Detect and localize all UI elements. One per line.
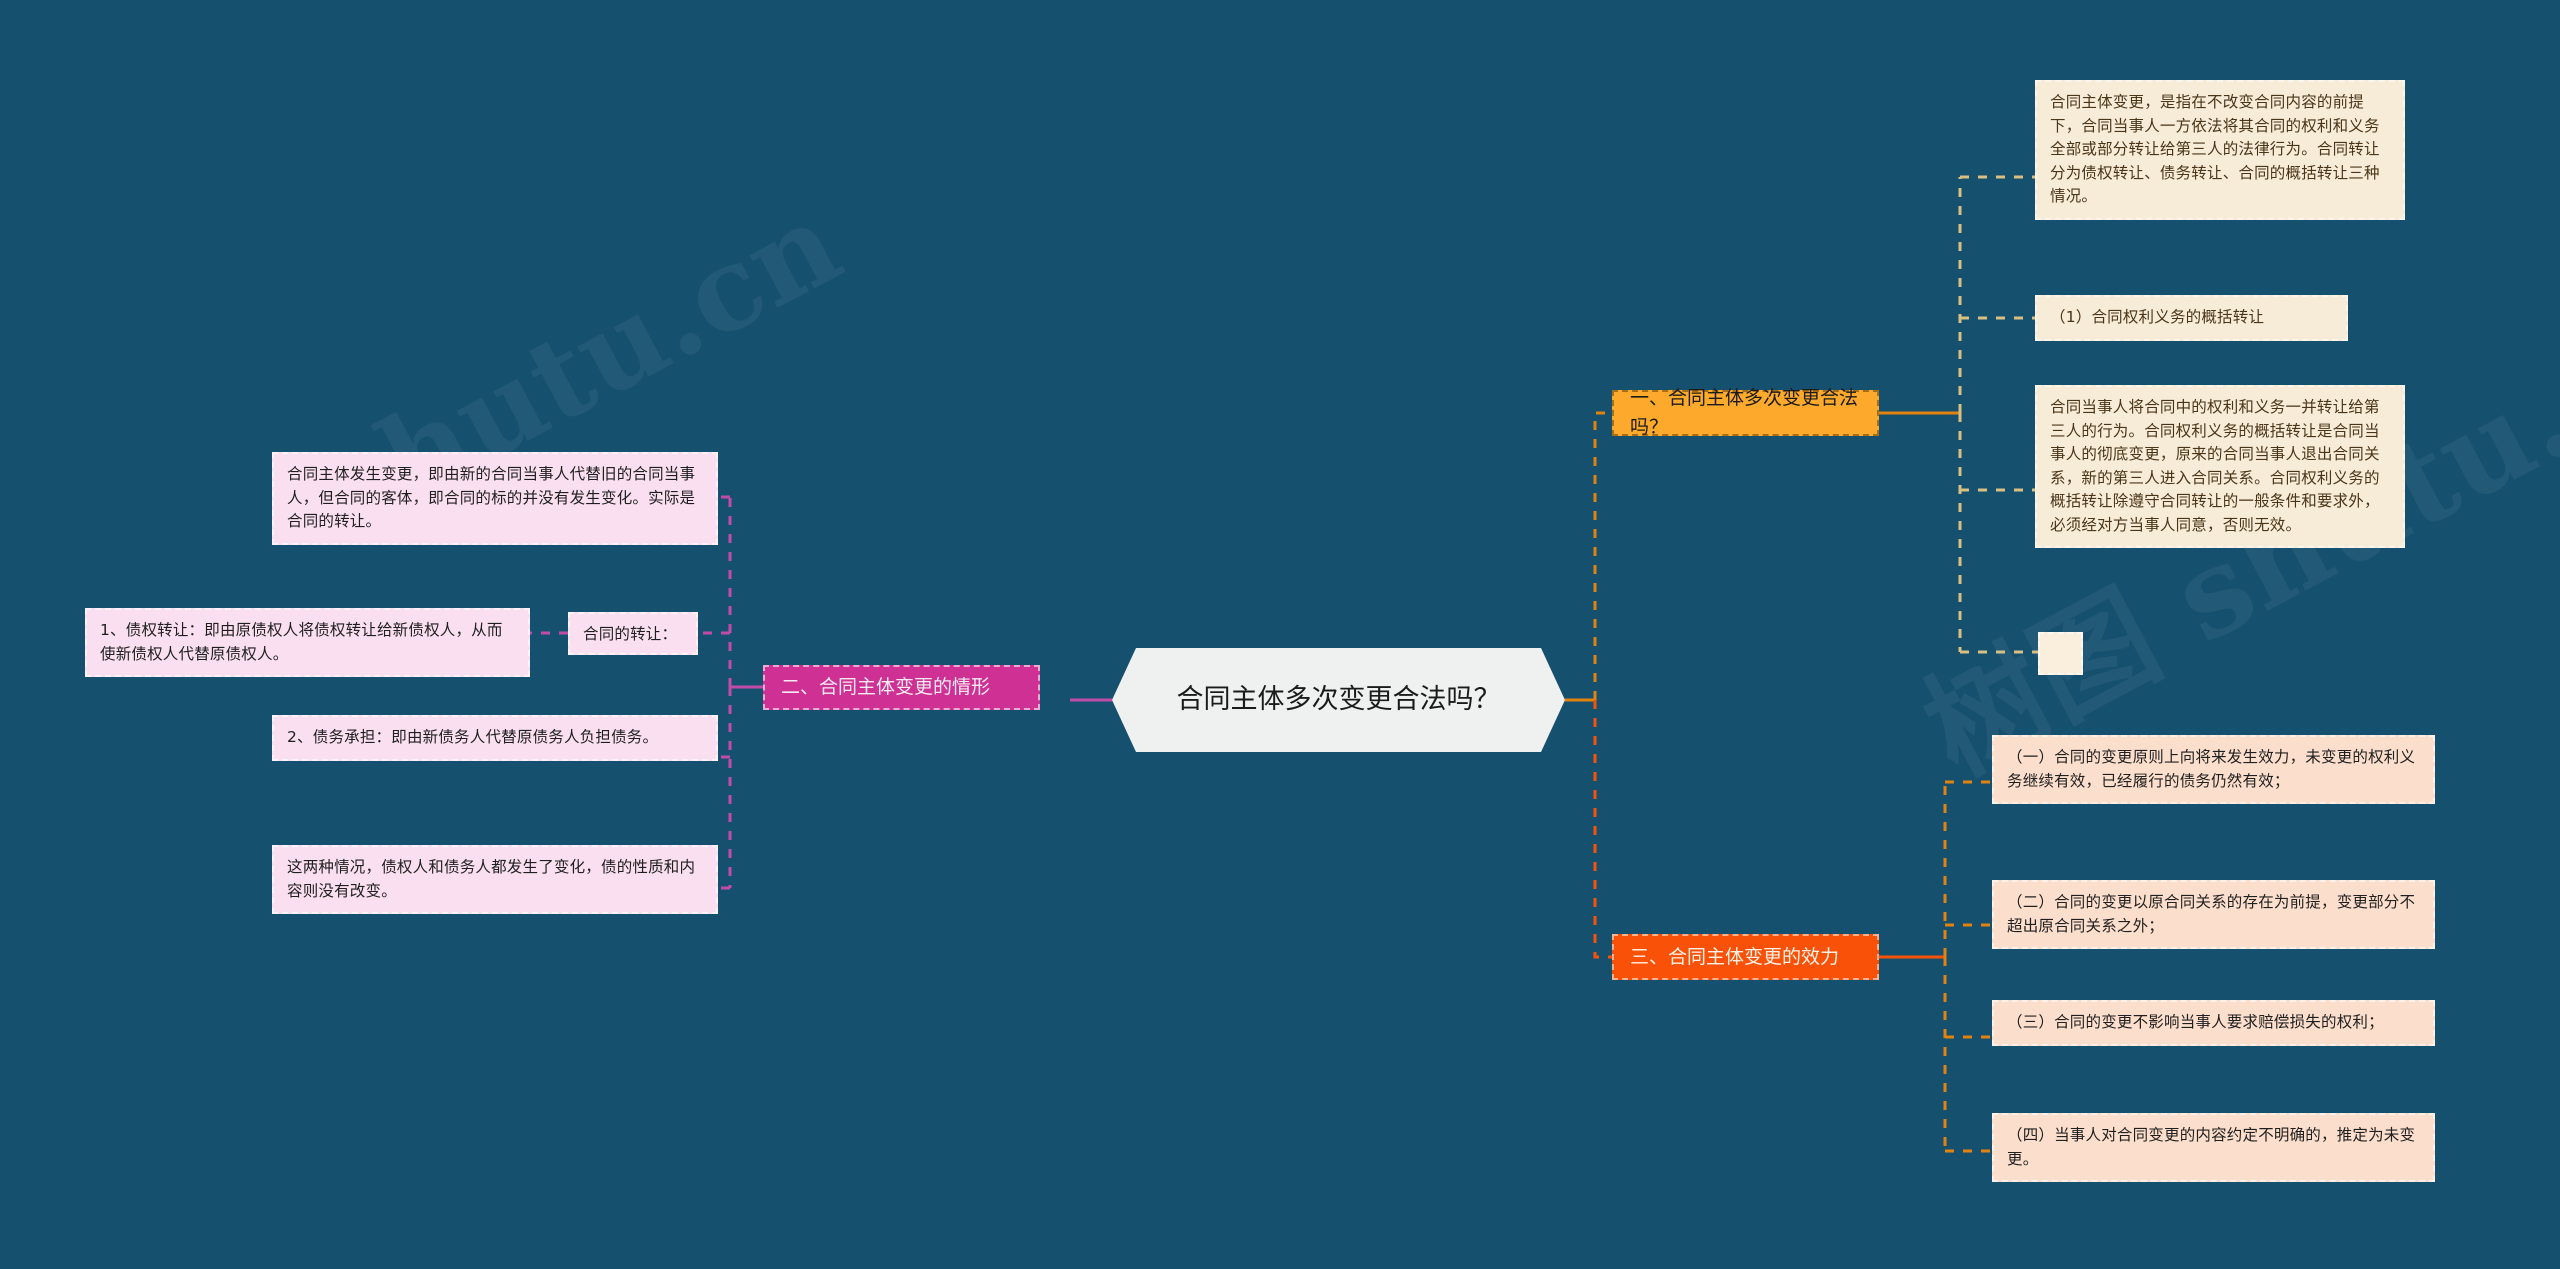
leaf-b2-c3[interactable]: 2、债务承担：即由新债务人代替原债务人负担债务。 xyxy=(272,715,718,761)
leaf-b1-c3[interactable]: 合同当事人将合同中的权利和义务一并转让给第三人的行为。合同权利义务的概括转让是合… xyxy=(2035,385,2405,548)
leaf-b3-c2[interactable]: （二）合同的变更以原合同关系的存在为前提，变更部分不超出原合同关系之外； xyxy=(1992,880,2435,949)
branch-node-2[interactable]: 二、合同主体变更的情形 xyxy=(763,665,1040,710)
leaf-b3-c1[interactable]: （一）合同的变更原则上向将来发生效力，未变更的权利义务继续有效，已经履行的债务仍… xyxy=(1992,735,2435,804)
branch-node-1[interactable]: 一、合同主体多次变更合法吗？ xyxy=(1612,390,1879,436)
leaf-b1-c4-empty[interactable] xyxy=(2038,632,2083,675)
leaf-b3-c4[interactable]: （四）当事人对合同变更的内容约定不明确的，推定为未变更。 xyxy=(1992,1113,2435,1182)
root-node[interactable]: 合同主体多次变更合法吗？ xyxy=(1112,648,1565,752)
leaf-b2-c2-1[interactable]: 1、债权转让：即由原债权人将债权转让给新债权人，从而使新债权人代替原债权人。 xyxy=(85,608,530,677)
leaf-b3-c3[interactable]: （三）合同的变更不影响当事人要求赔偿损失的权利； xyxy=(1992,1000,2435,1046)
leaf-b1-c1[interactable]: 合同主体变更，是指在不改变合同内容的前提下，合同当事人一方依法将其合同的权利和义… xyxy=(2035,80,2405,220)
leaf-b2-c4[interactable]: 这两种情况，债权人和债务人都发生了变化，债的性质和内容则没有改变。 xyxy=(272,845,718,914)
leaf-b2-c1[interactable]: 合同主体发生变更，即由新的合同当事人代替旧的合同当事人，但合同的客体，即合同的标… xyxy=(272,452,718,545)
branch-node-3[interactable]: 三、合同主体变更的效力 xyxy=(1612,934,1879,980)
leaf-b1-c2[interactable]: （1）合同权利义务的概括转让 xyxy=(2035,295,2348,341)
leaf-b2-c2[interactable]: 合同的转让： xyxy=(568,612,698,655)
mindmap-canvas: shutu.cn 树图 shutu.cn xyxy=(0,0,2560,1269)
